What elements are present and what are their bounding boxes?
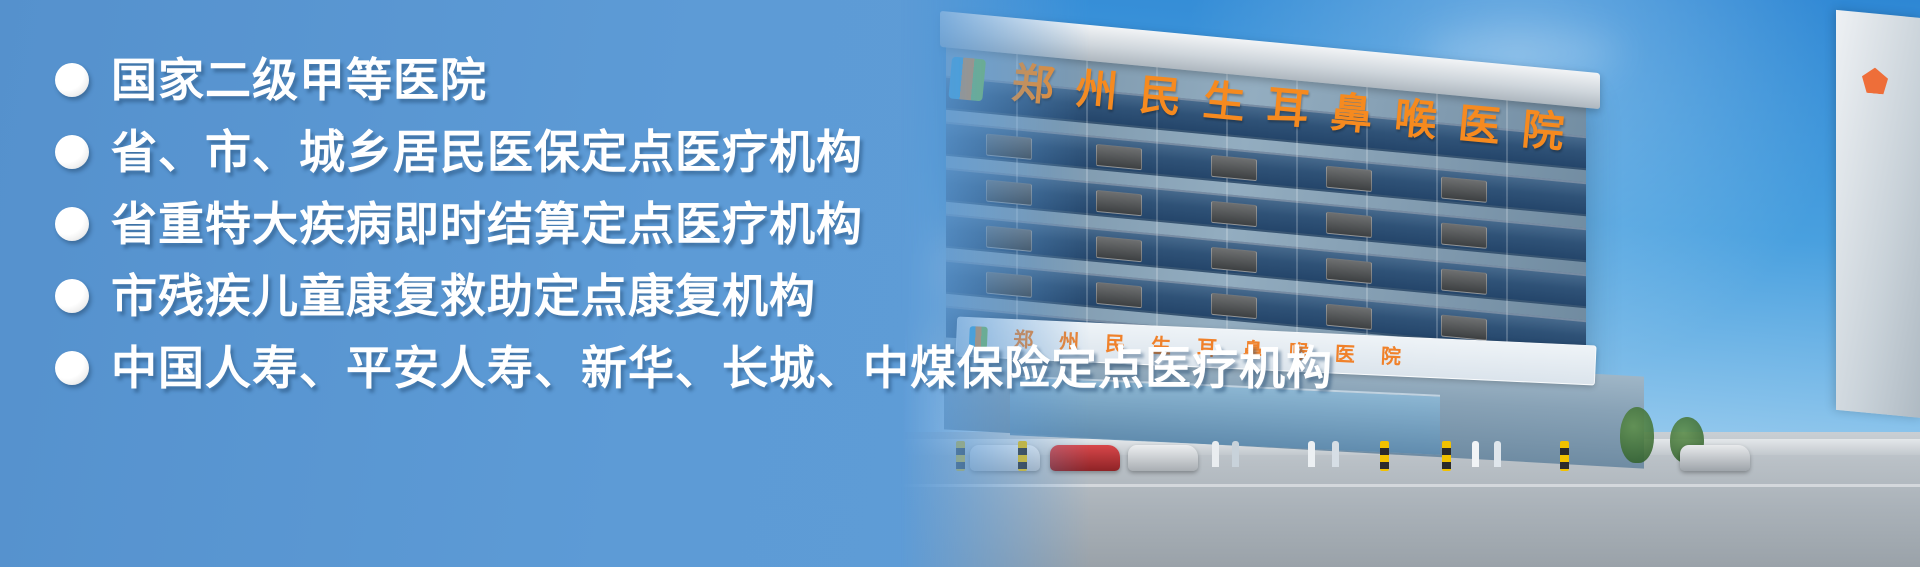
tower-emblem-icon: [1862, 66, 1888, 94]
parked-car: [970, 445, 1040, 471]
pedestrian: [1494, 441, 1501, 467]
list-item: 省、市、城乡居民医保定点医疗机构: [55, 116, 1345, 188]
bullet-dot-icon: [55, 207, 89, 241]
pedestrian: [1232, 441, 1239, 467]
traffic-bollard: [956, 441, 965, 471]
building-side-tower: [1836, 10, 1920, 418]
list-item: 国家二级甲等医院: [55, 44, 1345, 116]
list-item-label: 省重特大疾病即时结算定点医疗机构: [111, 201, 863, 247]
traffic-bollard: [1380, 441, 1389, 471]
list-item-label: 省、市、城乡居民医保定点医疗机构: [111, 129, 863, 175]
list-item: 中国人寿、平安人寿、新华、长城、中煤保险定点医疗机构: [55, 332, 1345, 404]
credentials-list: 国家二级甲等医院 省、市、城乡居民医保定点医疗机构 省重特大疾病即时结算定点医疗…: [55, 44, 1345, 404]
street-tree: [1620, 407, 1654, 463]
list-item-label: 市残疾儿童康复救助定点康复机构: [111, 273, 816, 319]
bullet-dot-icon: [55, 63, 89, 97]
bullet-dot-icon: [55, 279, 89, 313]
parked-car: [1050, 445, 1120, 471]
list-item-label: 中国人寿、平安人寿、新华、长城、中煤保险定点医疗机构: [111, 345, 1333, 391]
traffic-bollard: [1442, 441, 1451, 471]
list-item: 市残疾儿童康复救助定点康复机构: [55, 260, 1345, 332]
pedestrian: [1212, 441, 1219, 467]
list-item-label: 国家二级甲等医院: [111, 57, 487, 103]
bullet-dot-icon: [55, 135, 89, 169]
parked-car: [1128, 445, 1198, 471]
list-item: 省重特大疾病即时结算定点医疗机构: [55, 188, 1345, 260]
traffic-bollard: [1018, 441, 1027, 471]
pedestrian: [1472, 441, 1479, 467]
promo-banner: 郑 州 民 生 耳 鼻 喉 医 院 郑 州 民 生 耳 鼻 喉: [0, 0, 1920, 567]
bullet-dot-icon: [55, 351, 89, 385]
pedestrian: [1332, 441, 1339, 467]
parked-car: [1680, 445, 1750, 471]
traffic-bollard: [1560, 441, 1569, 471]
entrance-sign-char: 院: [1380, 346, 1401, 367]
pedestrian: [1308, 441, 1315, 467]
